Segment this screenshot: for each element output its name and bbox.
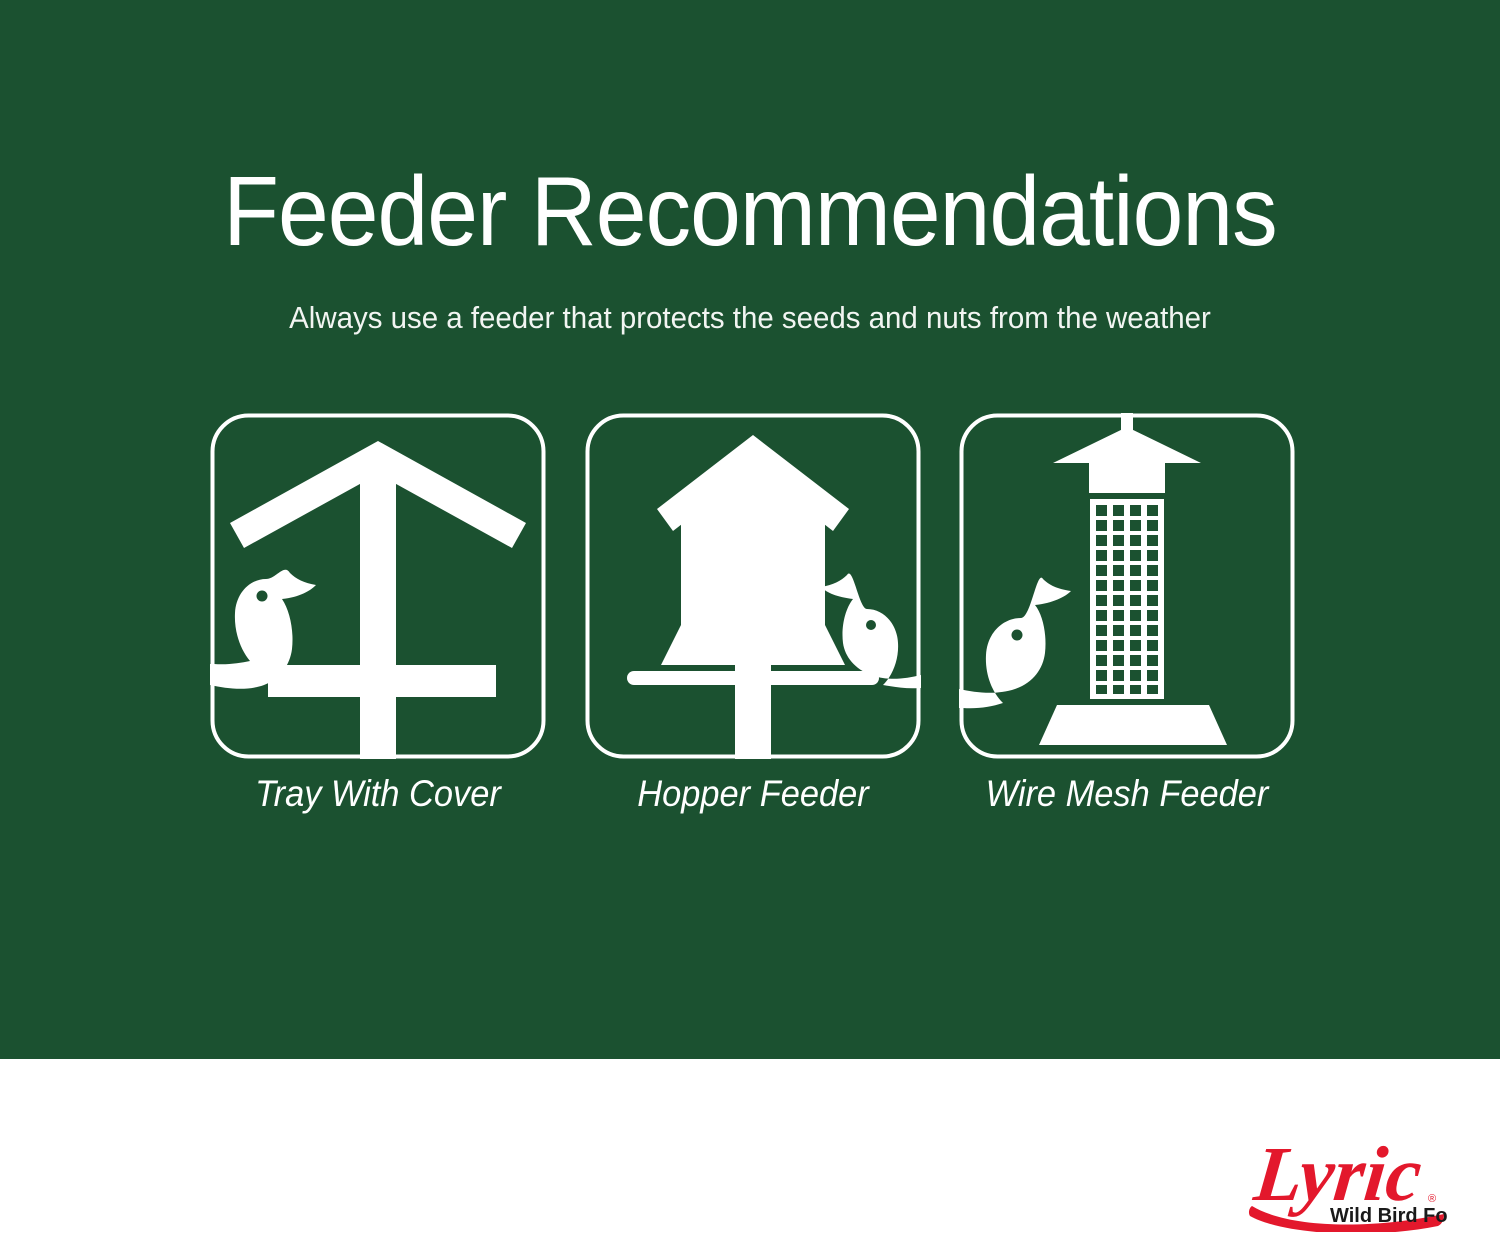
poster-canvas: Feeder Recommendations Always use a feed… xyxy=(0,0,1500,1250)
tray-platform xyxy=(268,665,496,697)
tray-bar xyxy=(627,671,879,685)
feeder-card-row: Tray With Cover xyxy=(210,413,1295,833)
perched-bird-facing-right xyxy=(959,578,1071,709)
bird-eye xyxy=(1012,630,1023,641)
base-tray xyxy=(1039,705,1227,745)
feeder-card-wire-mesh-feeder[interactable]: Wire Mesh Feeder xyxy=(959,413,1295,833)
lyric-brand-logo[interactable]: Lyric ® Wild Bird Food xyxy=(1248,1128,1448,1232)
wire-mesh-feeder-icon xyxy=(959,413,1295,759)
feeder-card-label: Hopper Feeder xyxy=(596,773,908,815)
page-title: Feeder Recommendations xyxy=(53,160,1448,263)
logo-trademark-icon: ® xyxy=(1428,1193,1436,1205)
logo-tagline: Wild Bird Food xyxy=(1330,1205,1448,1227)
feeder-card-tray-with-cover[interactable]: Tray With Cover xyxy=(210,413,546,833)
center-post xyxy=(360,461,396,759)
feeder-card-label: Wire Mesh Feeder xyxy=(971,773,1283,815)
hopper-feeder-icon xyxy=(585,413,921,759)
bird-eye xyxy=(257,591,268,602)
feeder-card-label: Tray With Cover xyxy=(222,773,534,815)
tray-with-cover-icon xyxy=(210,413,546,759)
roof-cap xyxy=(1053,427,1201,493)
mesh-tube xyxy=(1090,499,1164,699)
feeder-card-hopper-feeder[interactable]: Hopper Feeder xyxy=(585,413,921,833)
page-subtitle: Always use a feeder that protects the se… xyxy=(38,300,1463,336)
bird-eye xyxy=(866,620,876,630)
logo-wordmark: Lyric xyxy=(1250,1130,1426,1217)
